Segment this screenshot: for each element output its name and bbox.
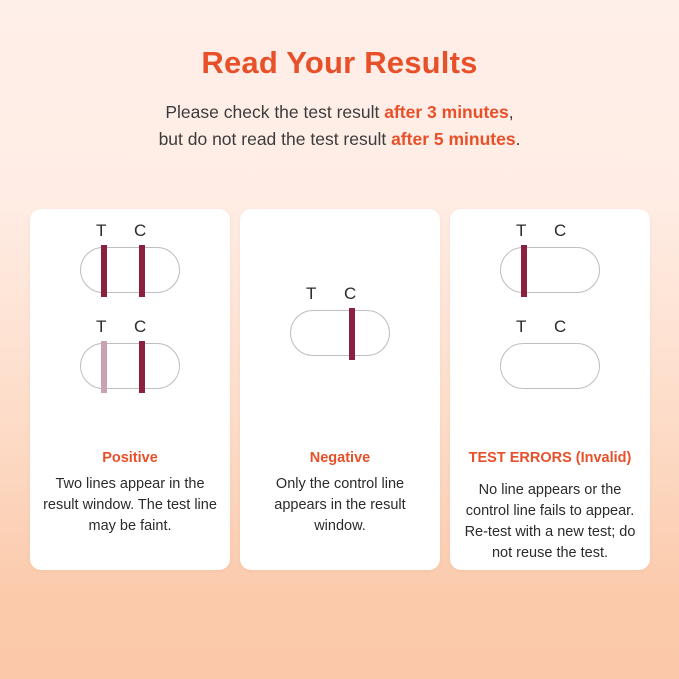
- result-card-negative: TCNegativeOnly the control line appears …: [240, 209, 440, 570]
- strip-label-t: T: [96, 317, 106, 337]
- subtitle-line2-pre: but do not read the test result: [159, 129, 392, 149]
- result-cards-row: TCTCPositiveTwo lines appear in the resu…: [30, 209, 650, 570]
- card-heading-positive: Positive: [42, 449, 218, 468]
- result-line-t-faint: [101, 341, 107, 393]
- result-window: [500, 247, 600, 293]
- subtitle-line1-pre: Please check the test result: [165, 102, 384, 122]
- test-strip-illustration-negative: TC: [240, 209, 440, 429]
- card-caption-invalid: TEST ERRORS (Invalid)No line appears or …: [450, 449, 650, 564]
- strip-label-t: T: [96, 221, 106, 241]
- card-body-positive: Two lines appear in the result window. T…: [42, 474, 218, 537]
- result-window: [80, 343, 180, 389]
- test-strip-positive-1: TC: [30, 221, 230, 293]
- result-card-invalid: TCTCTEST ERRORS (Invalid)No line appears…: [450, 209, 650, 570]
- strip-label-t: T: [306, 284, 316, 304]
- card-caption-positive: PositiveTwo lines appear in the result w…: [30, 449, 230, 537]
- result-window: [290, 310, 390, 356]
- result-window: [500, 343, 600, 389]
- subtitle-highlight-3min: after 3 minutes: [384, 102, 508, 122]
- strip-label-t: T: [516, 317, 526, 337]
- subtitle-highlight-5min: after 5 minutes: [391, 129, 515, 149]
- test-strip-invalid-2: TC: [450, 317, 650, 389]
- strip-label-c: C: [344, 284, 356, 304]
- strip-label-c: C: [554, 221, 566, 241]
- result-window: [80, 247, 180, 293]
- card-heading-invalid: TEST ERRORS (Invalid): [462, 449, 638, 468]
- test-strip-illustration-positive: TCTC: [30, 209, 230, 429]
- card-body-invalid: No line appears or the control line fail…: [462, 480, 638, 564]
- result-line-t-strong: [101, 245, 107, 297]
- result-line-c-strong: [139, 245, 145, 297]
- strip-labels: TC: [290, 284, 390, 306]
- result-line-t-strong: [521, 245, 527, 297]
- strip-label-c: C: [554, 317, 566, 337]
- test-strip-positive-2: TC: [30, 317, 230, 389]
- subtitle-line1-post: ,: [509, 102, 514, 122]
- results-guide-page: Read Your Results Please check the test …: [0, 0, 679, 679]
- strip-label-c: C: [134, 317, 146, 337]
- strip-labels: TC: [500, 221, 600, 243]
- page-title: Read Your Results: [0, 44, 679, 81]
- strip-labels: TC: [80, 317, 180, 339]
- card-body-negative: Only the control line appears in the res…: [252, 474, 428, 537]
- page-subtitle: Please check the test result after 3 min…: [0, 99, 679, 153]
- test-strip-invalid-1: TC: [450, 221, 650, 293]
- card-caption-negative: NegativeOnly the control line appears in…: [240, 449, 440, 537]
- test-strip-negative-1: TC: [240, 284, 440, 356]
- strip-labels: TC: [500, 317, 600, 339]
- subtitle-line2-post: .: [516, 129, 521, 149]
- page-header: Read Your Results Please check the test …: [0, 0, 679, 153]
- test-strip-illustration-invalid: TCTC: [450, 209, 650, 429]
- result-line-c-strong: [139, 341, 145, 393]
- result-card-positive: TCTCPositiveTwo lines appear in the resu…: [30, 209, 230, 570]
- result-line-c-strong: [349, 308, 355, 360]
- card-heading-negative: Negative: [252, 449, 428, 468]
- strip-label-c: C: [134, 221, 146, 241]
- strip-labels: TC: [80, 221, 180, 243]
- strip-label-t: T: [516, 221, 526, 241]
